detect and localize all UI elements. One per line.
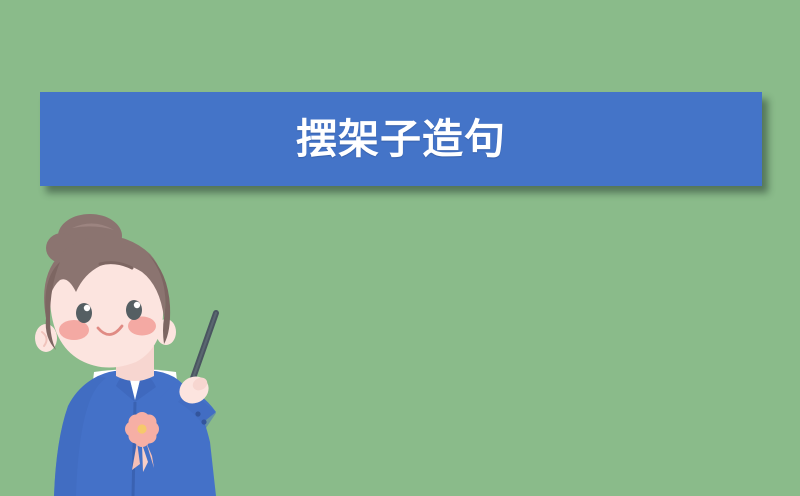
page-title: 摆架子造句 bbox=[296, 119, 506, 160]
cheek-left bbox=[59, 320, 89, 340]
eye-left bbox=[76, 303, 92, 323]
slide-canvas: 摆架子造句 bbox=[0, 0, 800, 496]
title-banner: 摆架子造句 bbox=[40, 92, 762, 186]
teacher-illustration bbox=[20, 214, 250, 496]
eye-right bbox=[126, 300, 142, 320]
cuff-button-lower bbox=[201, 419, 206, 424]
cuff-button-upper bbox=[195, 411, 200, 416]
